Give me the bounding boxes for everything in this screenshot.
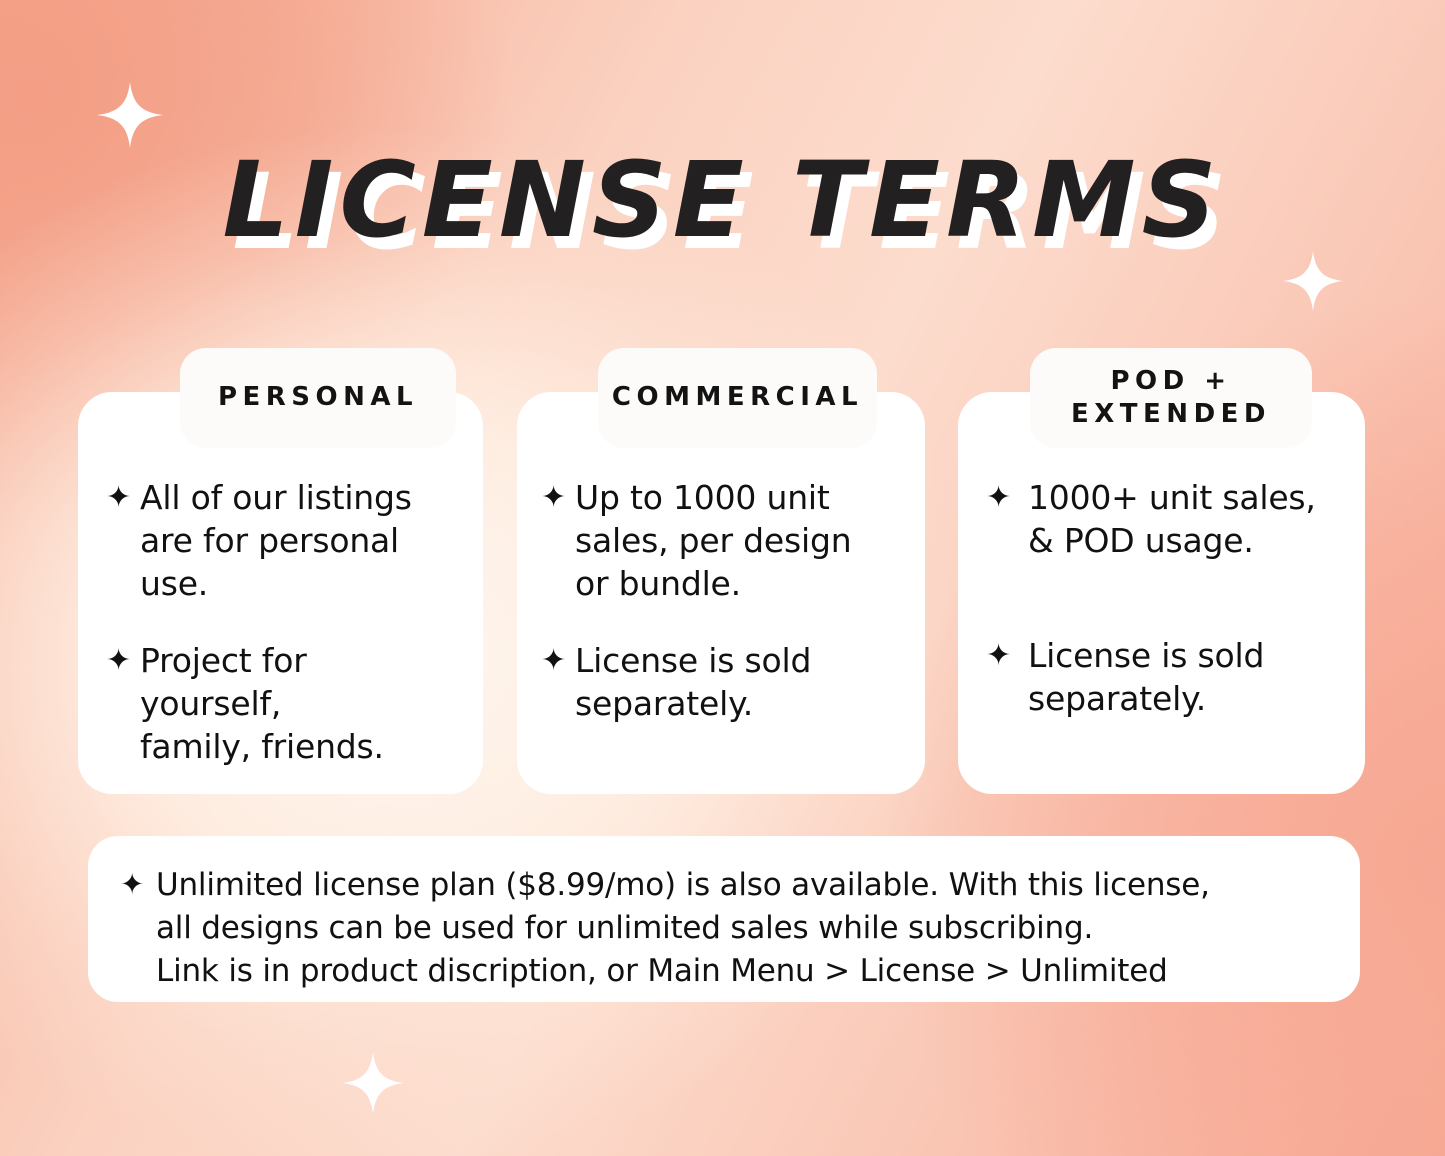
sparkle-bullet-icon: ✦ — [986, 476, 1028, 520]
license-tier-card-personal: PERSONAL ✦ All of our listings are for p… — [78, 348, 483, 794]
license-tier-card-commercial: COMMERCIAL ✦ Up to 1000 unit sales, per … — [517, 348, 925, 794]
tier-feature-list: ✦ 1000+ unit sales, & POD usage. ✦ Licen… — [958, 476, 1365, 720]
banner-content: ✦ Unlimited license plan ($8.99/mo) is a… — [120, 864, 1336, 993]
tier-feature-list: ✦ Up to 1000 unit sales, per design or b… — [517, 476, 925, 725]
license-tier-cards: PERSONAL ✦ All of our listings are for p… — [78, 348, 1365, 794]
tier-feature-text: 1000+ unit sales, & POD usage. — [1028, 476, 1339, 562]
tier-feature-text: License is sold separately. — [1028, 634, 1339, 720]
sparkle-bullet-icon: ✦ — [120, 864, 156, 907]
tier-header-label: PERSONAL — [218, 381, 418, 414]
sparkle-bullet-icon: ✦ — [106, 476, 140, 520]
license-terms-graphic: LICENSE TERMS PERSONAL ✦ All of our list… — [0, 0, 1445, 1156]
sparkle-bullet-icon: ✦ — [106, 639, 140, 683]
license-tier-card-pod-extended: POD + EXTENDED ✦ 1000+ unit sales, & POD… — [958, 348, 1365, 794]
sparkle-star-top-right-icon — [1283, 251, 1343, 311]
sparkle-bullet-icon: ✦ — [541, 639, 575, 683]
tier-feature-text: License is sold separately. — [575, 639, 899, 725]
tier-card-header-pod-extended: POD + EXTENDED — [1030, 348, 1312, 448]
tier-card-header-commercial: COMMERCIAL — [598, 348, 877, 448]
tier-feature-item: ✦ 1000+ unit sales, & POD usage. — [986, 476, 1339, 562]
unlimited-plan-banner: ✦ Unlimited license plan ($8.99/mo) is a… — [88, 836, 1360, 1002]
sparkle-bullet-icon: ✦ — [541, 476, 575, 520]
sparkle-bullet-icon: ✦ — [986, 634, 1028, 678]
tier-feature-text: All of our listings are for personal use… — [140, 476, 457, 605]
banner-text: Unlimited license plan ($8.99/mo) is als… — [156, 864, 1336, 993]
tier-header-label: POD + EXTENDED — [1071, 365, 1271, 432]
tier-header-label: COMMERCIAL — [612, 381, 863, 414]
tier-feature-item: ✦ License is sold separately. — [541, 639, 899, 725]
tier-card-header-personal: PERSONAL — [180, 348, 456, 448]
tier-feature-text: Up to 1000 unit sales, per design or bun… — [575, 476, 899, 605]
tier-feature-item: ✦ Up to 1000 unit sales, per design or b… — [541, 476, 899, 605]
tier-feature-item: ✦ All of our listings are for personal u… — [106, 476, 457, 605]
tier-feature-list: ✦ All of our listings are for personal u… — [78, 476, 483, 768]
tier-feature-text: Project for yourself, family, friends. — [140, 639, 457, 768]
sparkle-star-top-left-icon — [97, 82, 163, 148]
tier-feature-item: ✦ Project for yourself, family, friends. — [106, 639, 457, 768]
page-title: LICENSE TERMS — [223, 148, 1223, 252]
sparkle-star-bottom-icon — [342, 1052, 404, 1114]
page-title-container: LICENSE TERMS — [0, 148, 1445, 252]
tier-feature-item: ✦ License is sold separately. — [986, 634, 1339, 720]
